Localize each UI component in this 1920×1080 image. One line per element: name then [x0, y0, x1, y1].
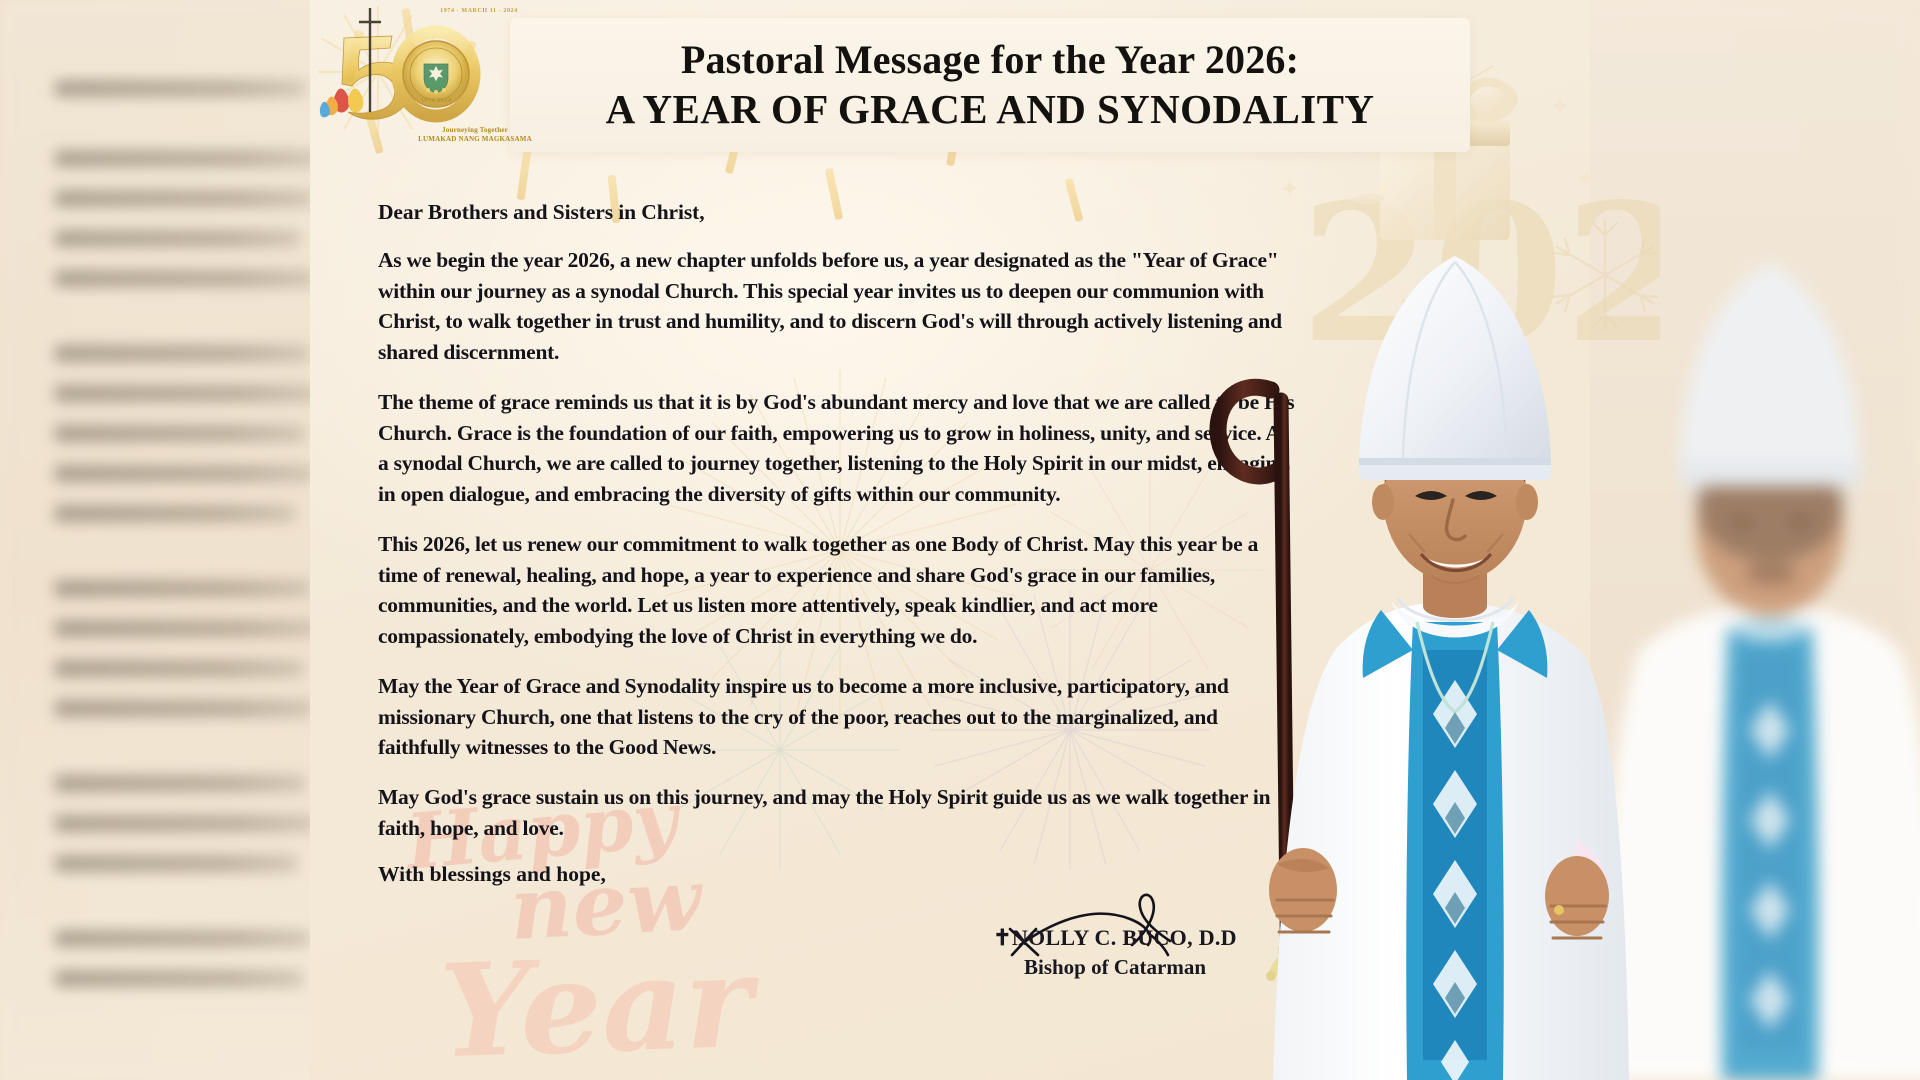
jubilee-logo: 1974-2024 1974 - MARCH 11 - 2024 Journey… [318, 2, 548, 152]
jubilee-caption-line-1: Journeying Together [404, 126, 546, 135]
episcopal-ring [1554, 905, 1564, 915]
page-title-line-1: Pastoral Message for the Year 2026: [681, 36, 1299, 83]
letter-paragraph: May God's grace sustain us on this journ… [378, 782, 1298, 843]
blurred-document-left [0, 0, 330, 1080]
letter-paragraph: This 2026, let us renew our commitment t… [378, 529, 1298, 652]
signature-cross-icon: ✝ [993, 925, 1012, 950]
letter-paragraph: The theme of grace reminds us that it is… [378, 387, 1298, 510]
jubilee-caption-line-2: LUMAKAD NANG MAGKASAMA [404, 135, 546, 144]
svg-text:1974-2024: 1974-2024 [421, 97, 452, 104]
letter-paragraph: As we begin the year 2026, a new chapter… [378, 245, 1298, 368]
bishop-photo [1185, 250, 1655, 1080]
hand-on-crozier [1269, 848, 1337, 932]
letter-body: Dear Brothers and Sisters in Christ, As … [378, 200, 1298, 887]
mitre [1359, 256, 1551, 480]
salutation: Dear Brothers and Sisters in Christ, [378, 200, 1298, 225]
letter-closing: With blessings and hope, [378, 862, 1298, 887]
page-title-line-2: A YEAR OF GRACE AND SYNODALITY [606, 84, 1375, 134]
poster-canvas: Happy new Year Pastoral Message for the … [0, 0, 1920, 1080]
title-banner: Pastoral Message for the Year 2026: A YE… [510, 18, 1470, 152]
jubilee-top-text: 1974 - MARCH 11 - 2024 [414, 8, 544, 14]
jubilee-caption: Journeying Together LUMAKAD NANG MAGKASA… [404, 126, 546, 145]
letter-paragraph: May the Year of Grace and Synodality ins… [378, 671, 1298, 763]
confetti-streak [517, 150, 532, 201]
watermark-year: Year [437, 927, 754, 1080]
